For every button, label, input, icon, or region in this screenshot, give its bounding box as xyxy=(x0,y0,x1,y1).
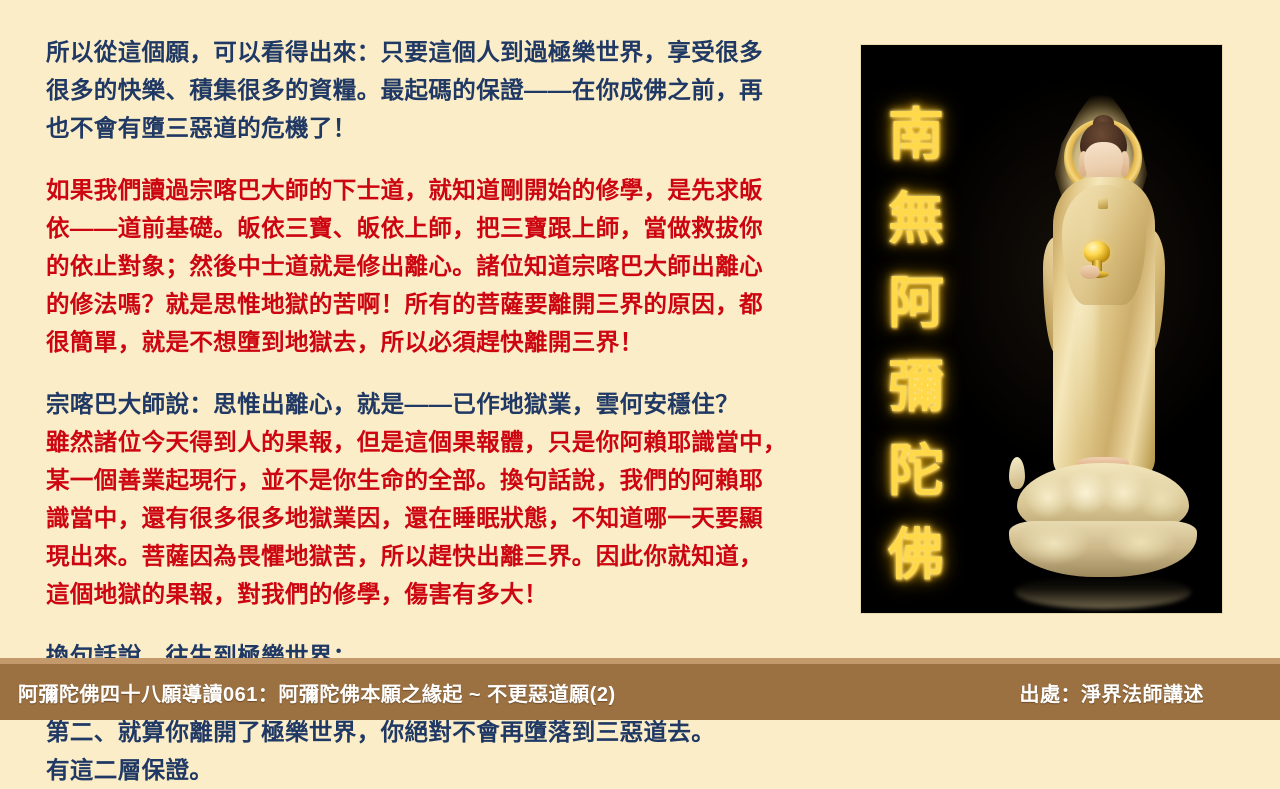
text-line: 這個地獄的果報，對我們的修學，傷害有多大！ xyxy=(46,575,836,613)
text-line: 所以從這個願，可以看得出來：只要這個人到過極樂世界，享受很多 xyxy=(46,33,836,71)
text-line: 的依止對象；然後中士道就是修出離心。諸位知道宗喀巴大師出離心 xyxy=(46,247,836,285)
calligraphy-glyph: 南 xyxy=(888,93,944,177)
lotus-bud xyxy=(1009,457,1025,489)
lecture-text-column: 所以從這個願，可以看得出來：只要這個人到過極樂世界，享受很多 很多的快樂、積集很… xyxy=(46,33,836,643)
footer-title: 阿彌陀佛四十八願導讀061：阿彌陀佛本願之緣起 ~ 不更惡道願(2) xyxy=(18,678,616,707)
buddha-hand xyxy=(1080,265,1100,279)
pedestal-reflection xyxy=(1015,575,1191,609)
text-line: 某一個善業起現行，並不是你生命的全部。換句話說，我們的阿賴耶 xyxy=(46,461,836,499)
slide-canvas: 所以從這個願，可以看得出來：只要這個人到過極樂世界，享受很多 很多的快樂、積集很… xyxy=(0,0,1280,720)
text-line: 現出來。菩薩因為畏懼地獄苦，所以趕快出離三界。因此你就知道， xyxy=(46,537,836,575)
text-line: 如果我們讀過宗喀巴大師的下士道，就知道剛開始的修學，是先求皈 xyxy=(46,171,836,209)
calligraphy-glyph: 佛 xyxy=(888,513,944,597)
text-line: 很多的快樂、積集很多的資糧。最起碼的保證——在你成佛之前，再 xyxy=(46,71,836,109)
text-line: 雖然諸位今天得到人的果報，但是這個果報體，只是你阿賴耶識當中， xyxy=(46,423,836,461)
calligraphy-glyph: 阿 xyxy=(888,261,944,345)
paragraph-1: 所以從這個願，可以看得出來：只要這個人到過極樂世界，享受很多 很多的快樂、積集很… xyxy=(46,33,836,147)
lotus-pedestal-base xyxy=(1009,521,1197,577)
footer-bar: 阿彌陀佛四十八願導讀061：阿彌陀佛本願之緣起 ~ 不更惡道願(2) 出處：淨界… xyxy=(0,658,1280,720)
text-line: 宗喀巴大師說：思惟出離心，就是——已作地獄業，雲何安穩住？ xyxy=(46,385,836,423)
text-line: 也不會有墮三惡道的危機了！ xyxy=(46,109,836,147)
paragraph-2: 如果我們讀過宗喀巴大師的下士道，就知道剛開始的修學，是先求皈 依——道前基礎。皈… xyxy=(46,171,836,361)
chest-swastika-mark xyxy=(1098,198,1108,209)
calligraphy-glyph: 無 xyxy=(888,177,944,261)
text-line: 有這二層保證。 xyxy=(46,751,836,789)
paragraph-3: 宗喀巴大師說：思惟出離心，就是——已作地獄業，雲何安穩住？ 雖然諸位今天得到人的… xyxy=(46,385,836,613)
calligraphy-glyph: 彌 xyxy=(888,345,944,429)
text-line: 的修法嗎？就是思惟地獄的苦啊！所有的菩薩要離開三界的原因，都 xyxy=(46,285,836,323)
calligraphy-glyph: 陀 xyxy=(888,429,944,513)
buddha-statue xyxy=(981,59,1219,604)
text-line: 依——道前基礎。皈依三寶、皈依上師，把三寶跟上師，當做救拔你 xyxy=(46,209,836,247)
amitabha-buddha-image: 南 無 阿 彌 陀 佛 xyxy=(861,45,1222,613)
text-line: 識當中，還有很多很多地獄業因，還在睡眠狀態，不知道哪一天要顯 xyxy=(46,499,836,537)
namo-amitabha-calligraphy: 南 無 阿 彌 陀 佛 xyxy=(879,93,953,597)
footer-source: 出處：淨界法師講述 xyxy=(1020,678,1251,707)
text-line: 很簡單，就是不想墮到地獄去，所以必須趕快離開三界！ xyxy=(46,323,836,361)
